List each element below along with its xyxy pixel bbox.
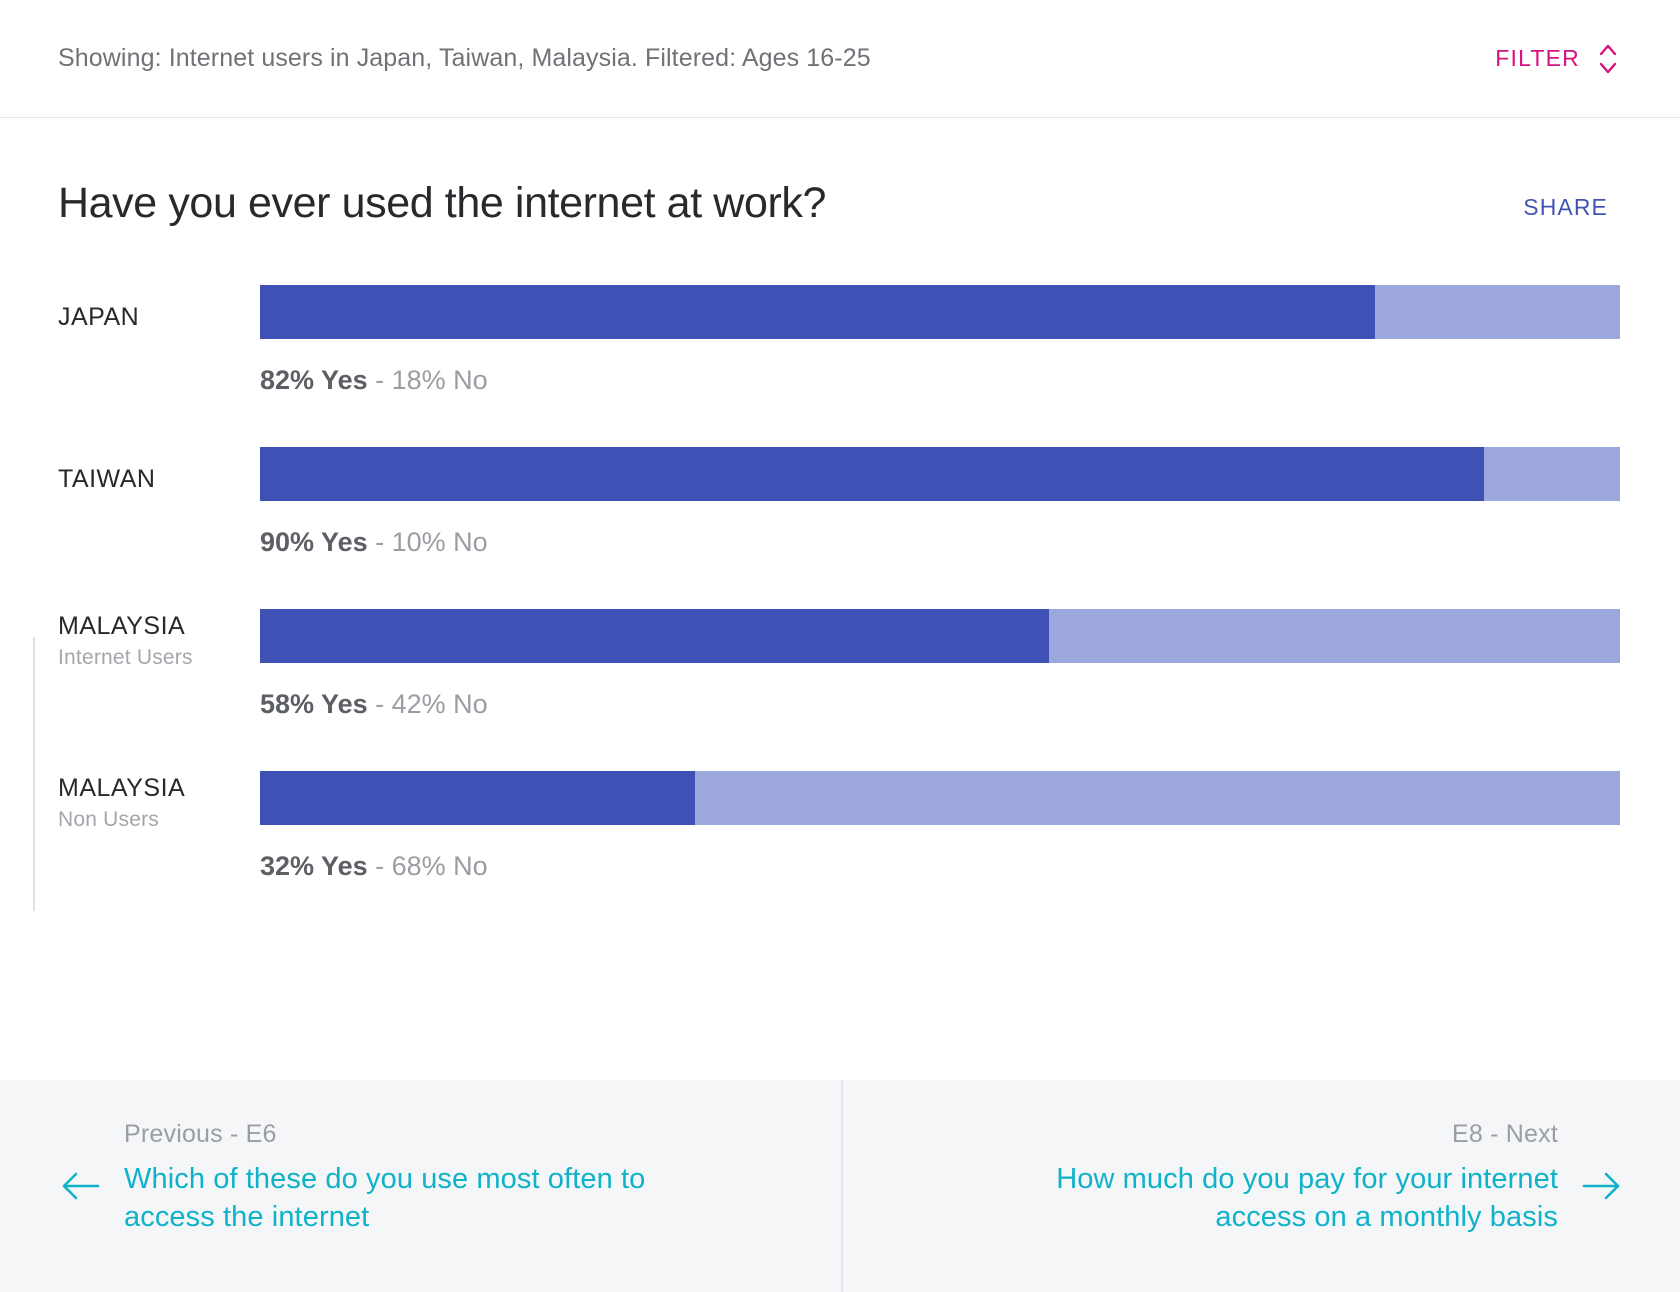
caption-yes: 90% Yes [260,527,368,557]
stacked-bar-chart: JAPAN 82% Yes - 18% No TAIWAN [0,227,1680,1080]
stacked-bar[interactable] [260,609,1620,663]
arrow-right-icon[interactable] [1580,1164,1624,1208]
caption-no: - 42% No [368,689,488,719]
filter-button-label[interactable]: FILTER [1495,45,1580,72]
expand-collapse-chevrons-icon[interactable] [1596,40,1620,78]
stacked-bar[interactable] [260,771,1620,825]
previous-question-link[interactable]: Previous - E6 Which of these do you use … [0,1080,841,1292]
caption-yes: 82% Yes [260,365,368,395]
caption-yes: 32% Yes [260,851,368,881]
filter-control[interactable]: FILTER [1495,40,1638,78]
caption-no: - 18% No [368,365,488,395]
row-label-main: MALAYSIA [58,611,260,642]
caption-no: - 10% No [368,527,488,557]
share-button[interactable]: SHARE [1523,180,1622,221]
chart-row: TAIWAN 90% Yes - 10% No [0,447,1680,609]
chart-row-label: JAPAN [0,285,260,341]
previous-question-title[interactable]: Which of these do you use most often to … [124,1161,724,1236]
question-navigation-footer: Previous - E6 Which of these do you use … [0,1080,1680,1292]
bar-caption: 82% Yes - 18% No [260,367,1620,394]
row-label-sub: Non Users [58,806,260,833]
chart-row: MALAYSIA Internet Users 58% Yes - 42% No [0,609,1680,771]
bar-caption: 90% Yes - 10% No [260,529,1620,556]
caption-no: - 68% No [368,851,488,881]
bar-caption: 32% Yes - 68% No [260,853,1620,880]
bar-segment-yes [260,285,1375,339]
next-question-title[interactable]: How much do you pay for your internet ac… [958,1161,1558,1236]
chart-row-bar-area: 90% Yes - 10% No [260,447,1680,556]
next-question-link[interactable]: E8 - Next How much do you pay for your i… [841,1080,1680,1292]
stacked-bar[interactable] [260,447,1620,501]
chart-row-bar-area: 82% Yes - 18% No [260,285,1680,394]
bar-caption: 58% Yes - 42% No [260,691,1620,718]
chart-row-bar-area: 58% Yes - 42% No [260,609,1680,718]
survey-result-page: Showing: Internet users in Japan, Taiwan… [0,0,1680,1292]
chart-row-bar-area: 32% Yes - 68% No [260,771,1680,880]
previous-question-kicker: Previous - E6 [124,1120,724,1149]
row-label-main: JAPAN [58,302,260,333]
bar-segment-yes [260,609,1049,663]
chart-row-label: MALAYSIA Non Users [0,771,260,827]
stacked-bar[interactable] [260,285,1620,339]
row-label-sub: Internet Users [58,644,260,671]
status-bar: Showing: Internet users in Japan, Taiwan… [0,0,1680,118]
showing-filter-summary: Showing: Internet users in Japan, Taiwan… [58,44,871,73]
chart-row: MALAYSIA Non Users 32% Yes - 68% No [0,771,1680,933]
chart-row-label: TAIWAN [0,447,260,503]
question-header: Have you ever used the internet at work?… [0,118,1680,227]
chart-row: JAPAN 82% Yes - 18% No [0,285,1680,447]
row-label-main: TAIWAN [58,464,260,495]
next-question-kicker: E8 - Next [1452,1120,1558,1149]
page-title: Have you ever used the internet at work? [58,180,826,227]
caption-yes: 58% Yes [260,689,368,719]
bar-segment-yes [260,447,1484,501]
arrow-left-icon[interactable] [58,1164,102,1208]
row-label-main: MALAYSIA [58,773,260,804]
chart-row-label: MALAYSIA Internet Users [0,609,260,665]
bar-segment-yes [260,771,695,825]
